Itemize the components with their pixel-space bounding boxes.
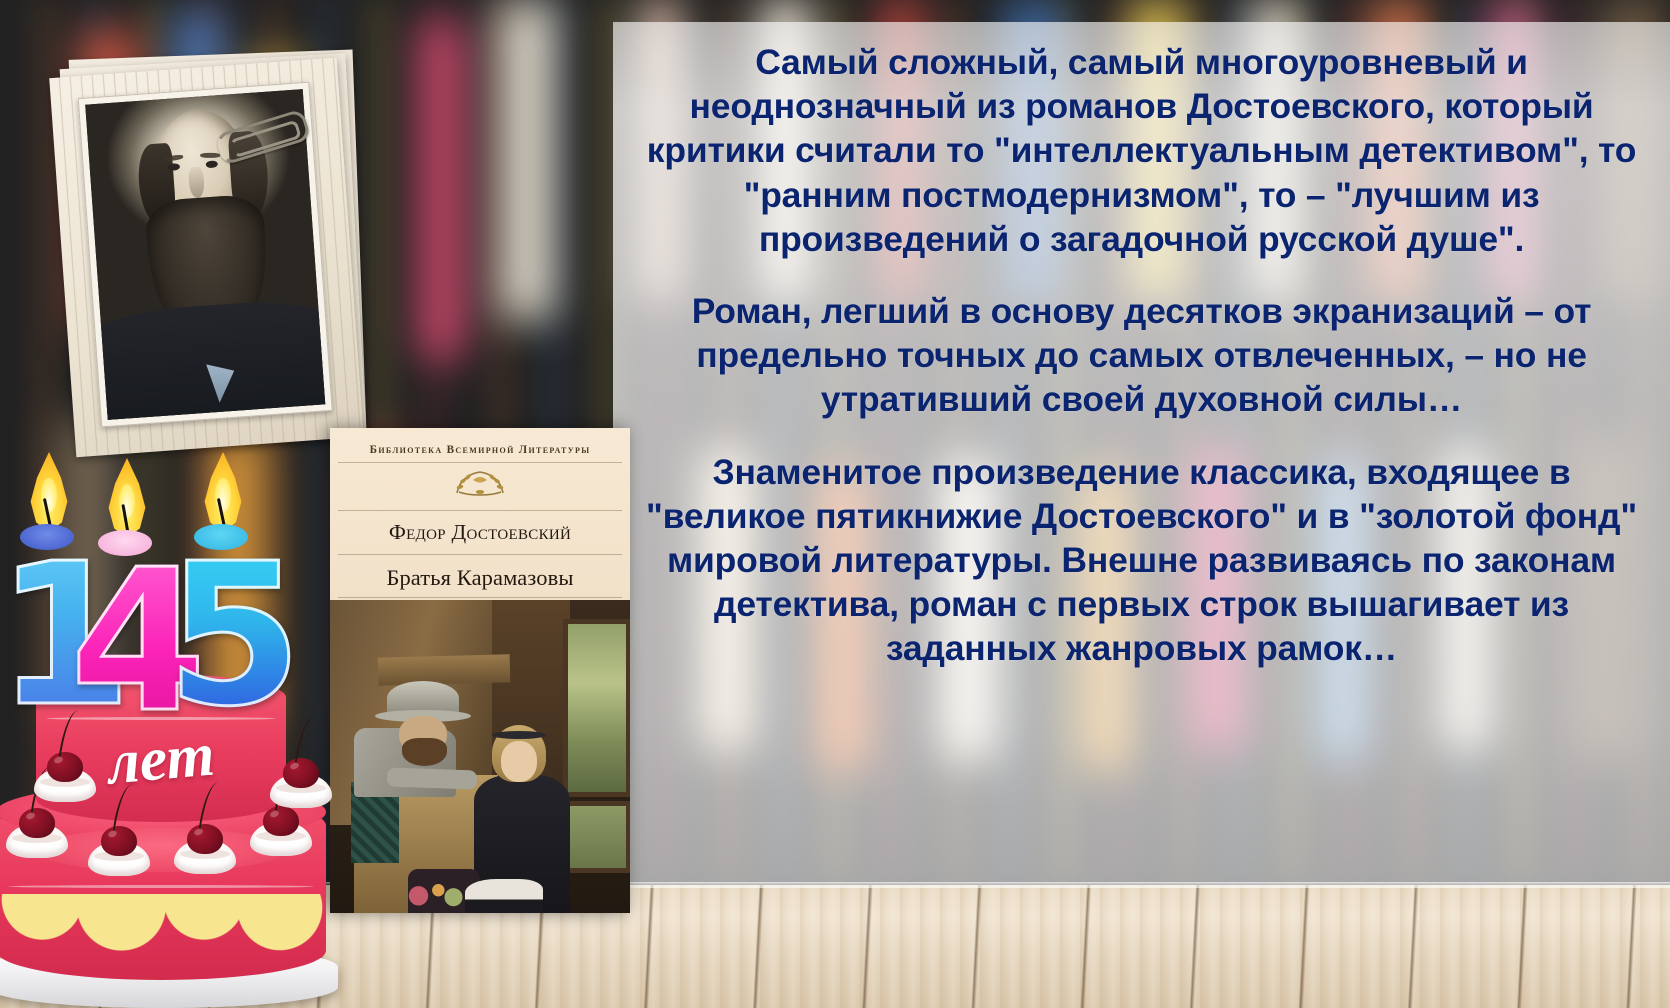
birthday-cake: лет (0, 452, 350, 1008)
book-rule-1 (338, 462, 622, 463)
candle-flame-core-2 (119, 484, 135, 518)
description-panel: Самый сложный, самый многоуровневый и не… (613, 22, 1670, 888)
art-window-upper (568, 624, 626, 792)
book-rule-4 (338, 597, 622, 598)
paragraph-2: Роман, легший в основу десятков экраниза… (635, 289, 1648, 422)
portrait-photo-card: Фёдор Достоевский (48, 45, 375, 457)
art-man-arm (387, 767, 478, 789)
art-man-beard (402, 738, 447, 766)
paragraph-1: Самый сложный, самый многоуровневый и не… (635, 40, 1648, 261)
book-author: Федор Достоевский (330, 520, 630, 545)
art-flowers (402, 879, 468, 907)
book-title: Братья Карамазовы (330, 565, 630, 591)
portrait-brow-right (200, 153, 220, 158)
book-rule-3 (338, 554, 622, 555)
cake-icing-drip (0, 894, 326, 980)
book-rule-2 (338, 510, 622, 511)
cake-tier-top-surface (36, 828, 286, 872)
slide-canvas: Самый сложный, самый многоуровневый и не… (0, 0, 1670, 1008)
art-girl-face (501, 741, 537, 782)
photo-frame (78, 82, 333, 428)
candle-flame-core-1 (41, 478, 57, 512)
candle-digit-3: 5 (166, 556, 302, 717)
laurel-wreath-emblem (449, 466, 511, 498)
art-window-lower (568, 806, 626, 868)
cherry-cream-2 (88, 816, 150, 876)
cherry-cream-6 (270, 748, 332, 808)
book-cover-artwork: В вагоне, картина XIX века (330, 600, 630, 913)
book-cover-top: Библиотека Всемирной Литературы (330, 428, 630, 600)
paragraph-3: Знаменитое произведение классика, входящ… (635, 450, 1648, 671)
candle-flame-core-3 (215, 478, 231, 512)
art-luggage-shelf (378, 655, 511, 687)
book-cover: Библиотека Всемирной Литературы (330, 428, 630, 913)
cake-band-bottom (8, 885, 314, 888)
cherry-cream-3 (174, 814, 236, 874)
cherry-cream-1 (6, 798, 68, 858)
art-dog (465, 879, 543, 913)
portrait-coat (85, 296, 325, 420)
book-series-label: Библиотека Всемирной Литературы (330, 444, 630, 456)
